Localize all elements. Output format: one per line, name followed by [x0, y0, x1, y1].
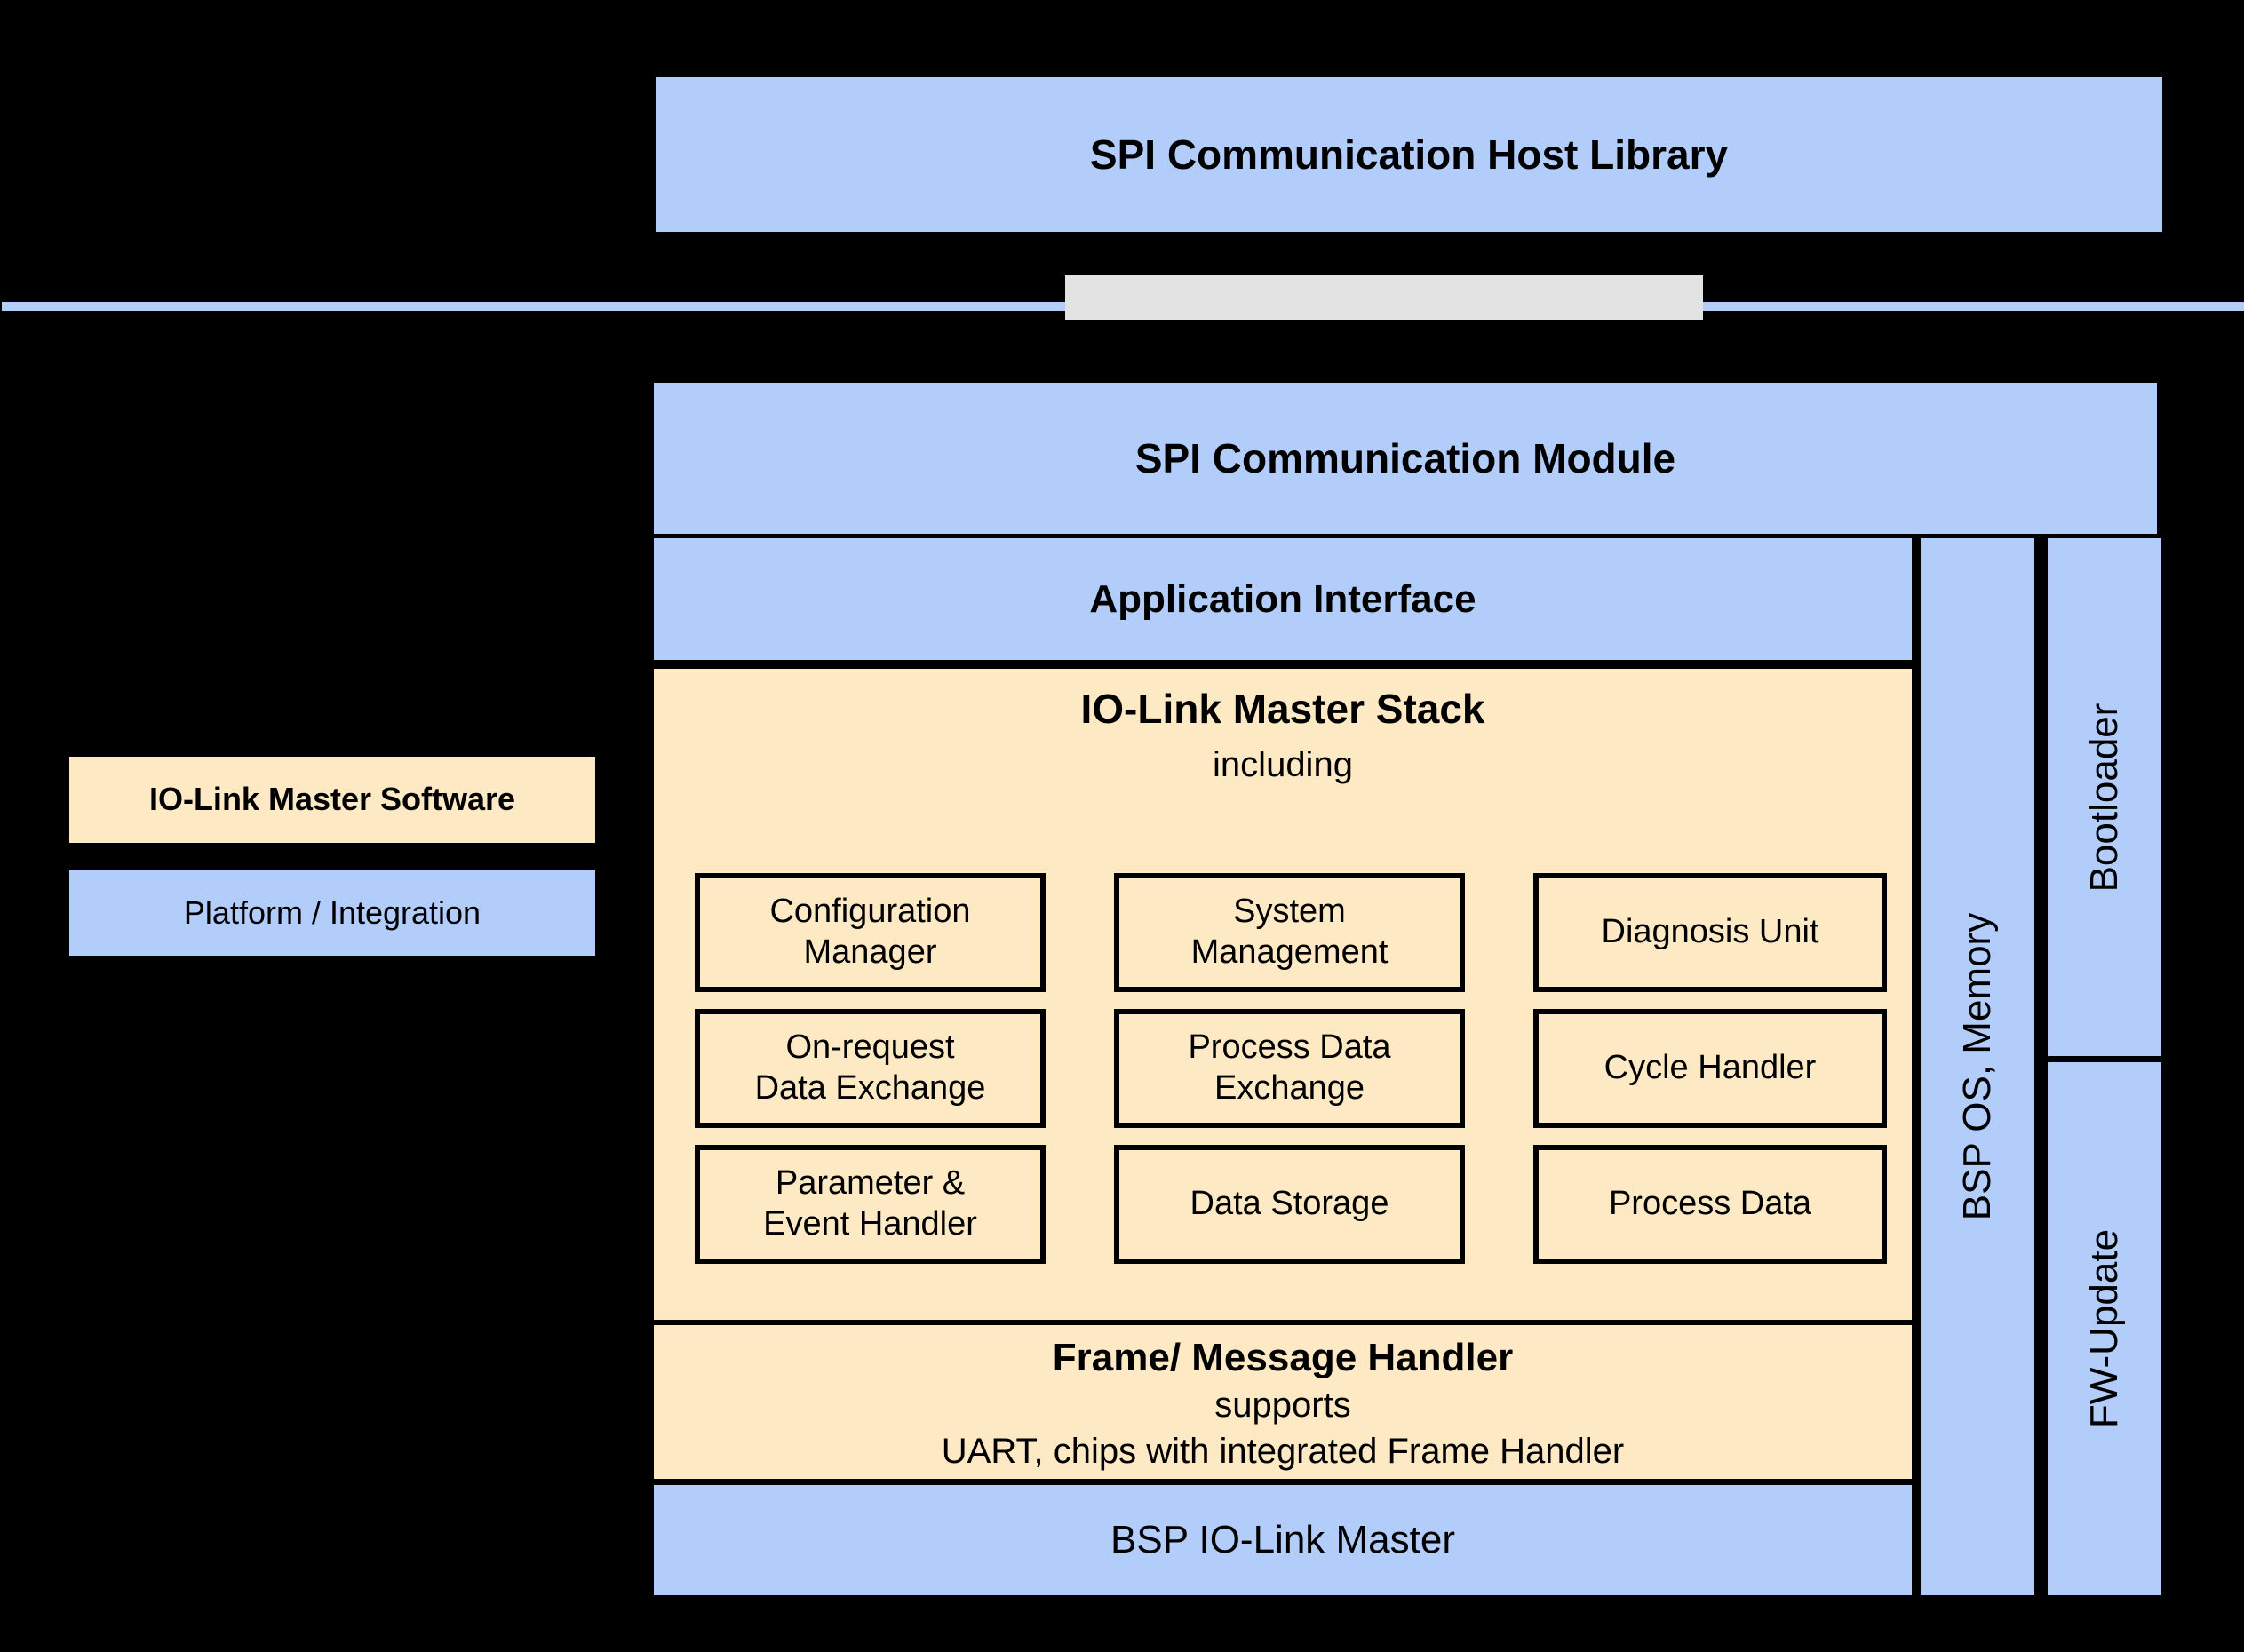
frame-handler-supports-list: UART, chips with integrated Frame Handle… — [654, 1432, 1912, 1472]
bsp-io-link-master-block: BSP IO-Link Master — [654, 1485, 1912, 1595]
spi-module-title: SPI Communication Module — [1135, 434, 1675, 482]
fw-update-label: FW-Update — [2082, 1229, 2127, 1428]
stack-cell-cycle-handler[interactable]: Cycle Handler — [1533, 1009, 1887, 1128]
stack-cell-data-storage[interactable]: Data Storage — [1114, 1145, 1465, 1264]
stack-title: IO-Link Master Stack — [654, 688, 1912, 729]
stack-subtitle: including — [654, 745, 1912, 785]
legend-item-platform-integration: Platform / Integration — [69, 870, 595, 956]
spi-connector-block — [1065, 275, 1703, 320]
stack-cell-system-management[interactable]: SystemManagement — [1114, 873, 1465, 992]
stack-cell-process-data-exchange[interactable]: Process DataExchange — [1114, 1009, 1465, 1128]
stack-cell-parameter-event-handler[interactable]: Parameter &Event Handler — [695, 1145, 1046, 1264]
stack-cell-label: Parameter &Event Handler — [763, 1164, 977, 1244]
stack-cell-label: Process DataExchange — [1188, 1028, 1390, 1108]
stack-cell-configuration-manager[interactable]: ConfigurationManager — [695, 873, 1046, 992]
stack-cell-on-request-data-exchange[interactable]: On-requestData Exchange — [695, 1009, 1046, 1128]
io-link-master-stack-block: IO-Link Master Stack including Configura… — [654, 669, 1912, 1320]
stack-cell-label: Cycle Handler — [1604, 1048, 1817, 1089]
host-library-title: SPI Communication Host Library — [1090, 131, 1728, 179]
bootloader-label: Bootloader — [2082, 703, 2127, 892]
bsp-os-memory-label: BSP OS, Memory — [1955, 913, 2000, 1220]
bsp-io-link-master-label: BSP IO-Link Master — [1110, 1517, 1455, 1563]
stack-cell-label: Data Storage — [1190, 1184, 1389, 1225]
application-interface-block: Application Interface — [654, 538, 1912, 664]
bootloader-column: Bootloader — [2043, 538, 2161, 1060]
frame-handler-title: Frame/ Message Handler — [654, 1336, 1912, 1380]
fw-update-column: FW-Update — [2043, 1062, 2161, 1595]
stack-cell-label: On-requestData Exchange — [755, 1028, 986, 1108]
stack-cell-process-data[interactable]: Process Data — [1533, 1145, 1887, 1264]
application-interface-label: Application Interface — [1089, 576, 1476, 623]
bsp-os-memory-column: BSP OS, Memory — [1916, 538, 2039, 1595]
spi-communication-module-block: SPI Communication Module — [654, 383, 2157, 534]
legend-label: IO-Link Master Software — [149, 781, 515, 818]
legend-label: Platform / Integration — [184, 894, 481, 932]
frame-message-handler-block: Frame/ Message Handler supports UART, ch… — [654, 1320, 1912, 1484]
stack-cell-label: SystemManagement — [1191, 892, 1389, 973]
stack-cell-label: Diagnosis Unit — [1602, 912, 1819, 953]
stack-cell-diagnosis-unit[interactable]: Diagnosis Unit — [1533, 873, 1887, 992]
spi-communication-host-library-block: SPI Communication Host Library — [656, 77, 2162, 232]
frame-handler-supports-label: supports — [654, 1386, 1912, 1426]
stack-cell-label: ConfigurationManager — [769, 892, 970, 973]
legend-item-io-link-master-software: IO-Link Master Software — [69, 757, 595, 843]
stack-cell-label: Process Data — [1609, 1184, 1811, 1225]
